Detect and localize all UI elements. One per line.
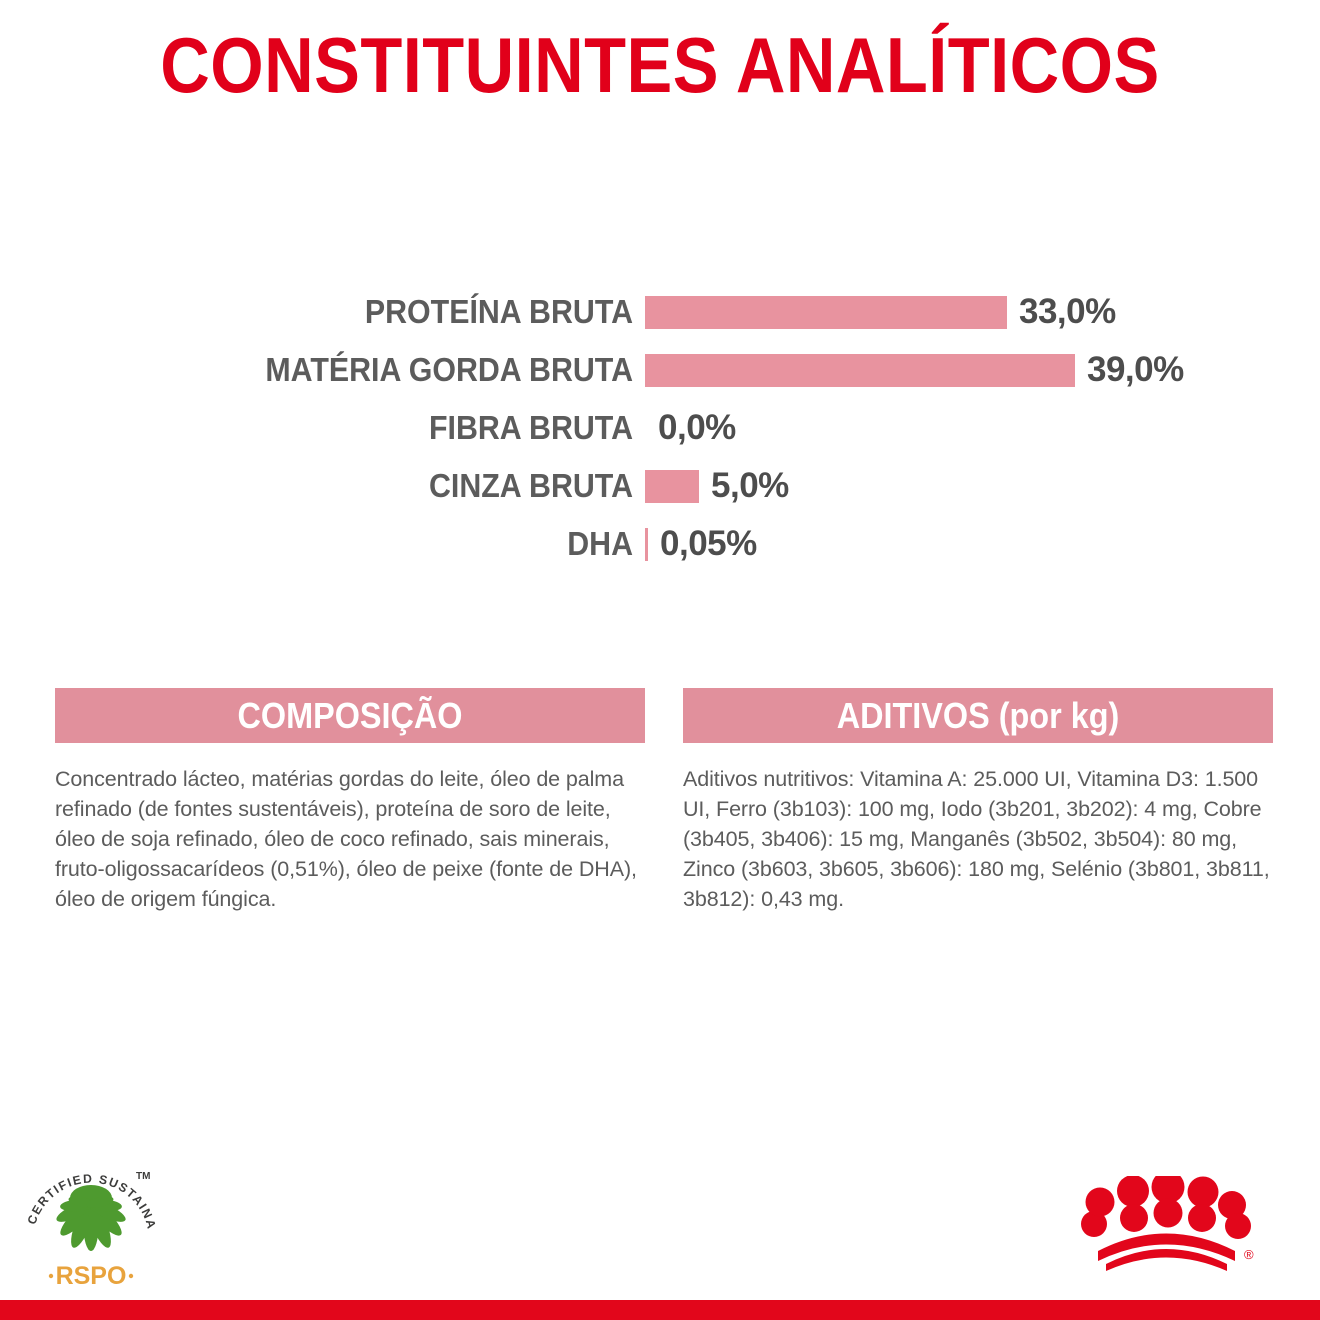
chart-value-fat: 39,0% <box>1075 350 1184 390</box>
rspo-logo: CERTIFIED SUSTAINABLE PALM OIL TM <box>16 1146 166 1296</box>
chart-row-label-dha: DHA <box>52 525 645 563</box>
nutrition-panel-page: CONSTITUINTES ANALÍTICOS PROTEÍNA BRUTA … <box>0 0 1320 1320</box>
bottom-red-bar <box>0 1300 1320 1320</box>
svg-text:®: ® <box>1244 1247 1254 1262</box>
chart-value-protein: 33,0% <box>1007 292 1116 332</box>
chart-row: FIBRA BRUTA 0,0% <box>0 399 1320 457</box>
royal-canin-logo: ® <box>1072 1176 1257 1276</box>
additives-header-label: ADITIVOS (por kg) <box>837 695 1120 737</box>
chart-row-label-fibre: FIBRA BRUTA <box>52 409 645 447</box>
chart-bar-wrap: 0,0% <box>645 408 1320 448</box>
composition-panel: COMPOSIÇÃO Concentrado lácteo, matérias … <box>55 688 645 914</box>
analytical-constituents-chart: PROTEÍNA BRUTA 33,0% MATÉRIA GORDA BRUTA… <box>0 283 1320 573</box>
chart-bar-wrap: 33,0% <box>645 292 1320 332</box>
composition-header-label: COMPOSIÇÃO <box>237 695 462 737</box>
chart-value-ash: 5,0% <box>699 466 789 506</box>
chart-row: DHA 0,05% <box>0 515 1320 573</box>
chart-bar-fat <box>645 354 1075 387</box>
chart-row: PROTEÍNA BRUTA 33,0% <box>0 283 1320 341</box>
chart-row: CINZA BRUTA 5,0% <box>0 457 1320 515</box>
chart-bar-wrap: 39,0% <box>645 350 1320 390</box>
chart-bar-wrap: 0,05% <box>645 524 1320 564</box>
svg-text:RSPO: RSPO <box>56 1262 127 1290</box>
chart-value-fibre: 0,0% <box>645 408 736 448</box>
additives-text: Aditivos nutritivos: Vitamina A: 25.000 … <box>683 764 1273 914</box>
composition-body: Concentrado lácteo, matérias gordas do l… <box>55 743 645 914</box>
composition-header: COMPOSIÇÃO <box>55 688 645 743</box>
chart-row: MATÉRIA GORDA BRUTA 39,0% <box>0 341 1320 399</box>
info-panels: COMPOSIÇÃO Concentrado lácteo, matérias … <box>55 688 1273 914</box>
chart-row-label-ash: CINZA BRUTA <box>52 467 645 505</box>
chart-row-label-fat: MATÉRIA GORDA BRUTA <box>52 351 645 389</box>
chart-bar-ash <box>645 470 699 503</box>
page-title: CONSTITUINTES ANALÍTICOS <box>79 26 1241 104</box>
additives-body: Aditivos nutritivos: Vitamina A: 25.000 … <box>683 743 1273 914</box>
chart-row-label-protein: PROTEÍNA BRUTA <box>52 293 645 331</box>
composition-text: Concentrado lácteo, matérias gordas do l… <box>55 764 645 914</box>
chart-bar-wrap: 5,0% <box>645 466 1320 506</box>
svg-text:TM: TM <box>136 1171 150 1182</box>
additives-panel: ADITIVOS (por kg) Aditivos nutritivos: V… <box>683 688 1273 914</box>
additives-header: ADITIVOS (por kg) <box>683 688 1273 743</box>
chart-value-dha: 0,05% <box>648 524 757 564</box>
chart-bar-protein <box>645 296 1007 329</box>
